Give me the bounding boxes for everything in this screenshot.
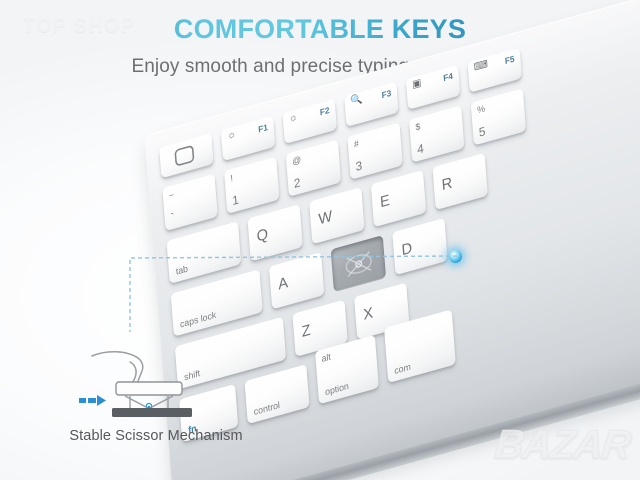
key-f5-label: F5 xyxy=(505,53,515,66)
finger-icon xyxy=(92,352,143,383)
key-5[interactable]: % 5 xyxy=(471,88,526,145)
stability-arrow-icon xyxy=(79,395,106,406)
key-q[interactable]: Q xyxy=(247,204,302,261)
key-e-label: E xyxy=(379,191,390,211)
key-1[interactable]: ! 1 xyxy=(224,157,279,214)
key-1-shift-label: ! xyxy=(230,173,233,184)
key-f1-label: F1 xyxy=(258,122,268,135)
scissor-mechanism-icon xyxy=(340,245,378,282)
key-r-label: R xyxy=(441,174,453,194)
search-icon: 🔍 xyxy=(350,94,363,107)
brightness-low-icon: ☼ xyxy=(227,130,237,143)
key-5-label: 5 xyxy=(478,124,486,140)
key-z-label: Z xyxy=(301,321,311,341)
key-caps-lock-label: caps lock xyxy=(180,309,217,329)
key-control-label: control xyxy=(253,400,280,417)
key-f5[interactable]: ⌨ F5 xyxy=(468,48,522,93)
key-a-label: A xyxy=(278,274,289,294)
key-4[interactable]: $ 4 xyxy=(409,105,464,162)
key-f3[interactable]: 🔍 F3 xyxy=(344,82,398,127)
key-command-label: com xyxy=(394,361,411,376)
key-d-label: D xyxy=(401,239,413,259)
key-3[interactable]: # 3 xyxy=(347,123,402,180)
key-2[interactable]: @ 2 xyxy=(286,140,341,197)
key-4-label: 4 xyxy=(417,141,425,157)
key-w-label: W xyxy=(318,207,333,228)
key-alt-label: alt xyxy=(321,351,331,364)
key-5-shift-label: % xyxy=(477,103,486,115)
dictation-icon: ▣ xyxy=(412,78,422,91)
key-a[interactable]: A xyxy=(269,252,324,309)
key-1-label: 1 xyxy=(232,192,240,208)
key-backtick-label: ` xyxy=(170,210,175,225)
base-plate xyxy=(112,408,192,417)
brightness-high-icon: ☼ xyxy=(289,112,299,125)
keycap-shape xyxy=(116,382,182,395)
key-e[interactable]: E xyxy=(371,170,426,227)
key-f2[interactable]: ☼ F2 xyxy=(283,99,337,144)
key-q-label: Q xyxy=(256,225,269,245)
key-control[interactable]: control xyxy=(245,364,310,424)
key-option-label: option xyxy=(325,381,349,398)
key-w[interactable]: W xyxy=(309,187,364,244)
highlight-glow-dot xyxy=(449,250,462,263)
key-f3-label: F3 xyxy=(381,88,391,101)
key-escape[interactable] xyxy=(159,133,213,178)
watermark-bazar: BAZAR xyxy=(492,423,633,468)
product-image-canvas: TOP SHOP COMFORTABLE KEYS Enjoy smooth a… xyxy=(0,0,640,480)
key-2-shift-label: @ xyxy=(292,154,302,167)
key-f4[interactable]: ▣ F4 xyxy=(406,65,460,110)
key-f4-label: F4 xyxy=(443,71,453,84)
key-2-label: 2 xyxy=(293,175,301,191)
key-backtick[interactable]: ~ ` xyxy=(162,174,217,231)
key-d[interactable]: D xyxy=(392,218,447,275)
key-x-label: X xyxy=(363,304,374,324)
key-tab-label: tab xyxy=(175,263,188,277)
key-f1[interactable]: ☼ F1 xyxy=(221,116,275,161)
rounded-square-icon xyxy=(172,141,199,170)
key-3-shift-label: # xyxy=(353,138,359,149)
key-3-label: 3 xyxy=(355,158,363,174)
key-tab[interactable]: tab xyxy=(167,221,242,283)
key-r[interactable]: R xyxy=(432,153,487,210)
removed-keycap-scissor-mechanism[interactable] xyxy=(331,235,386,292)
scissor-mechanism-diagram xyxy=(68,348,248,428)
key-f2-label: F2 xyxy=(320,105,330,118)
key-backtick-shift-label: ~ xyxy=(168,189,174,201)
key-4-shift-label: $ xyxy=(415,121,421,132)
diagram-caption: Stable Scissor Mechanism xyxy=(46,428,266,444)
keyboard-backlight-icon: ⌨ xyxy=(474,60,489,74)
